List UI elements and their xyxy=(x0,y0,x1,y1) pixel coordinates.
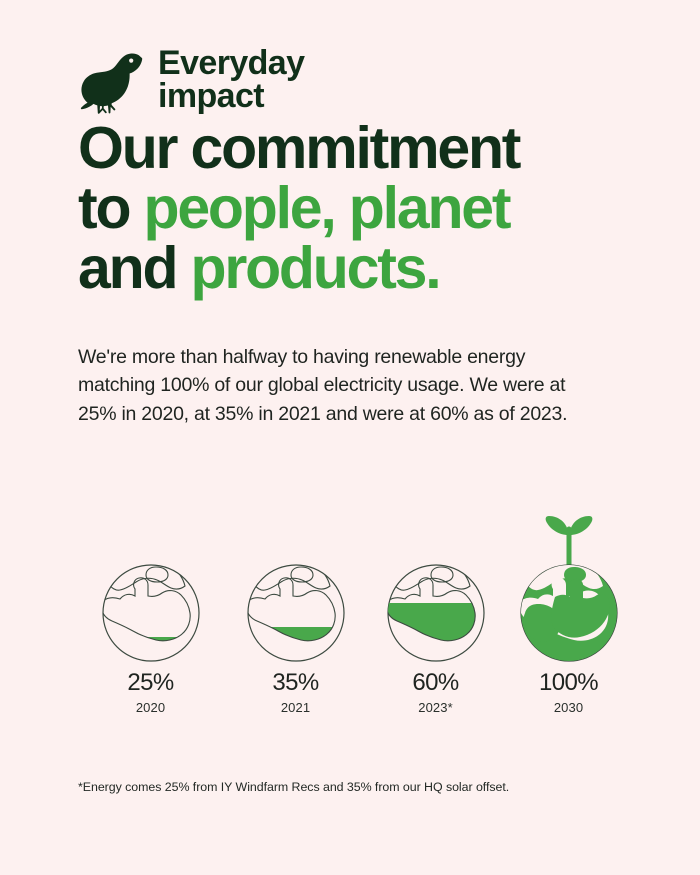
body-paragraph: We're more than halfway to having renewa… xyxy=(78,343,578,429)
globe-percent: 25% xyxy=(88,669,213,697)
globe-item: 25% 2020 xyxy=(88,505,213,715)
globe-percent: 100% xyxy=(506,669,631,697)
footnote: *Energy comes 25% from IY Windfarm Recs … xyxy=(78,779,509,796)
globe-icon xyxy=(375,505,497,665)
headline-line-3-accent: products. xyxy=(190,235,439,301)
headline-line-3-plain: and xyxy=(78,235,190,301)
headline-line-2-accent: people, planet xyxy=(143,175,509,241)
headline-line-3: and products. xyxy=(78,238,622,298)
bird-icon xyxy=(78,43,144,115)
globe-year: 2030 xyxy=(506,700,631,715)
globe-item: 35% 2021 xyxy=(233,505,358,715)
poster-canvas: Everyday impact Our commitment to people… xyxy=(0,0,700,875)
globe-item: 100% 2030 xyxy=(506,505,631,715)
globe-percent: 60% xyxy=(373,669,498,697)
page-title: Our commitment to people, planet and pro… xyxy=(78,118,622,299)
globe-year: 2021 xyxy=(233,700,358,715)
globe-icon xyxy=(235,505,357,665)
globe-year: 2020 xyxy=(88,700,213,715)
headline-line-2: to people, planet xyxy=(78,178,622,238)
headline-line-2-plain: to xyxy=(78,175,143,241)
brand-name: Everyday impact xyxy=(158,45,304,114)
globe-year: 2023* xyxy=(373,700,498,715)
brand-name-line2: impact xyxy=(158,80,304,113)
globe-sprout-icon xyxy=(508,505,630,665)
globe-percent: 35% xyxy=(233,669,358,697)
sprout-icon xyxy=(545,516,592,567)
globe-icon xyxy=(90,505,212,665)
globe-item: 60% 2023* xyxy=(373,505,498,715)
brand-name-line1: Everyday xyxy=(158,47,304,80)
headline-line-1: Our commitment xyxy=(78,118,622,178)
globe-progress-chart: 25% 2020 xyxy=(78,505,622,735)
brand-lockup: Everyday impact xyxy=(78,0,622,96)
